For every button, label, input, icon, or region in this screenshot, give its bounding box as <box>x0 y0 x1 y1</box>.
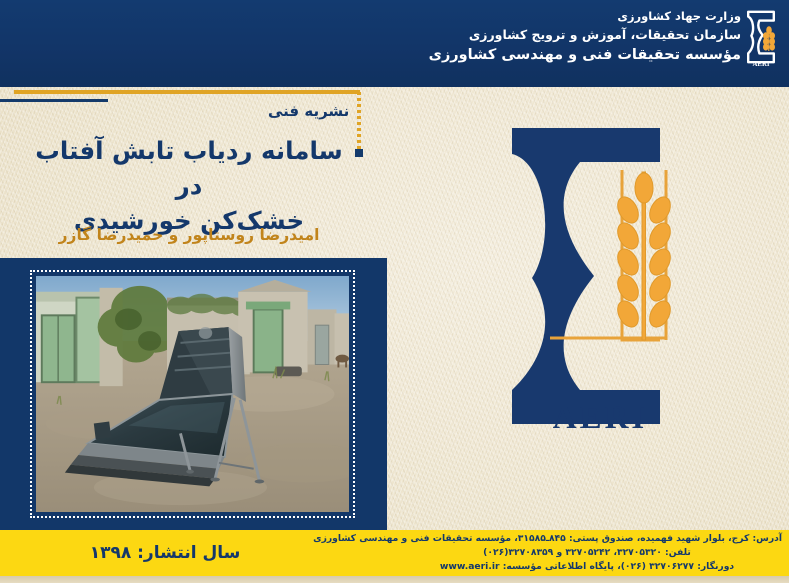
header-line-institute: مؤسسه تحقیقات فنی و مهندسی کشاورزی <box>411 46 741 66</box>
publication-type-badge: نشریه فنی <box>268 102 349 120</box>
page-title: سامانه ردیاب تابش آفتاب در خشک‌کن خورشید… <box>19 134 359 238</box>
footer-fax-website: دورنگار: ۳۲۷۰۶۲۷۷ (۰۲۶)، پایگاه اطلاعاتی… <box>392 560 782 574</box>
footer-contact-info: آدرس: کرج، بلوار شهید فهمیده، صندوق پستی… <box>392 532 782 574</box>
decor-rule-orange <box>14 90 360 94</box>
footer-bottom-edge <box>0 576 789 583</box>
title-line-1: سامانه ردیاب تابش آفتاب در <box>19 134 359 204</box>
aeri-logo-icon: AERI <box>741 6 781 68</box>
publish-year: سال انتشار: ۱۳۹۸ <box>0 530 330 576</box>
header-organization-text: وزارت جهاد کشاورزی سازمان تحقیقات، آموزش… <box>411 9 741 66</box>
aeri-wordmark: AERI <box>470 400 730 437</box>
svg-text:AERI: AERI <box>753 61 770 68</box>
solar-dryer-photo <box>36 276 349 512</box>
footer-phone: تلفن: ۳۲۷۰۵۳۲۰، ۳۲۷۰۵۲۴۲ و ۳۲۷۰۸۳۵۹(۰۲۶) <box>392 546 782 560</box>
decor-rule-blue <box>0 99 108 102</box>
photo-dotted-frame <box>30 270 355 518</box>
book-cover: وزارت جهاد کشاورزی سازمان تحقیقات، آموزش… <box>0 0 789 583</box>
footer-address: آدرس: کرج، بلوار شهید فهمیده، صندوق پستی… <box>392 532 782 546</box>
aeri-logo-large-icon <box>470 110 730 440</box>
authors-line: امیدرضا روستاپور و حمیدرضا گازر <box>21 226 357 244</box>
solar-dryer-illustration <box>36 276 349 512</box>
header-line-ministry: وزارت جهاد کشاورزی <box>411 9 741 25</box>
header-line-organization: سازمان تحقیقات، آموزش و ترویج کشاورزی <box>411 27 741 44</box>
header-band: وزارت جهاد کشاورزی سازمان تحقیقات، آموزش… <box>0 0 789 87</box>
photo-panel <box>0 258 387 530</box>
